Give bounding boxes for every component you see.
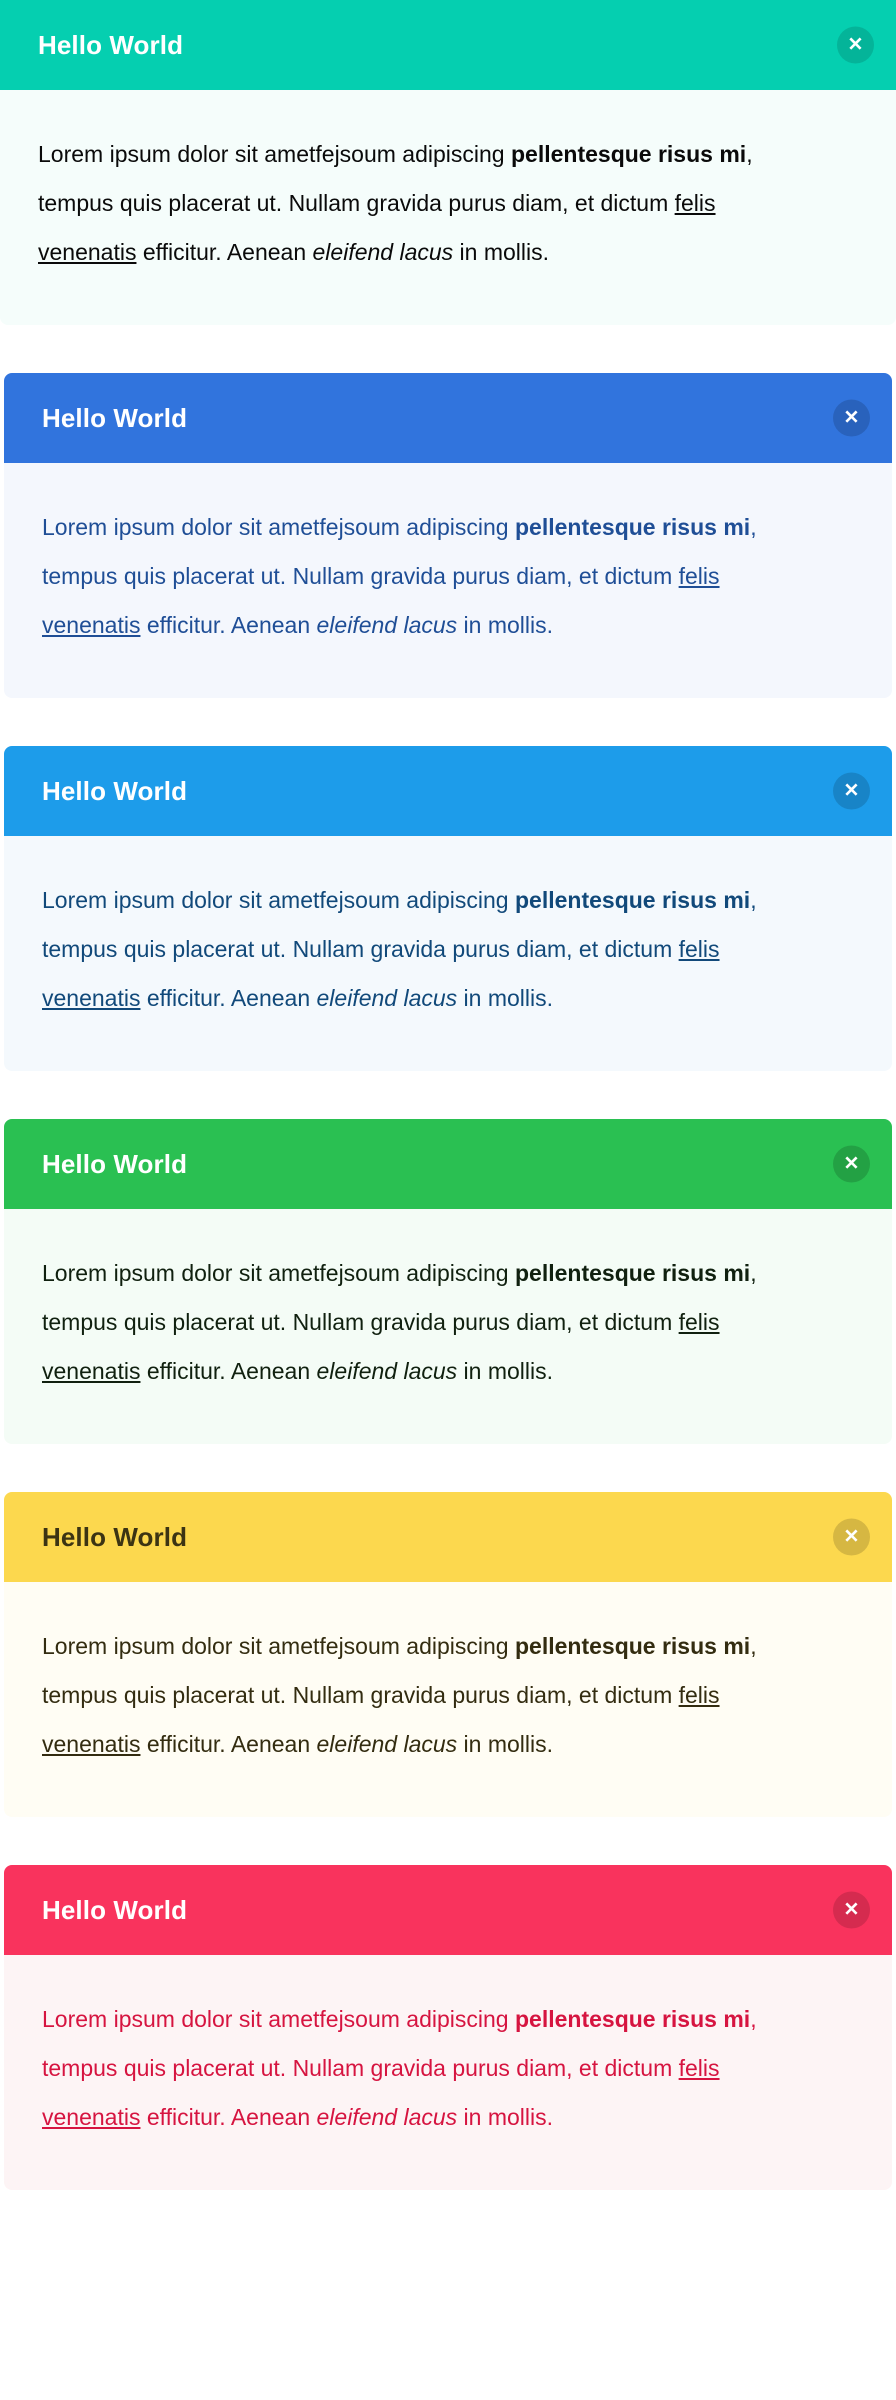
body-text-bold: pellentesque risus mi xyxy=(515,514,750,540)
card-gap xyxy=(0,1817,896,1865)
body-text-mid-2: efficitur. Aenean xyxy=(140,612,316,638)
card-header-blue: Hello World✕ xyxy=(4,373,892,463)
body-text-tail: in mollis. xyxy=(457,1731,553,1757)
body-text-lead: Lorem ipsum dolor sit ametfejsoum adipis… xyxy=(42,887,515,913)
card-title: Hello World xyxy=(42,1151,187,1177)
alert-card-stack: Hello World✕Lorem ipsum dolor sit ametfe… xyxy=(0,0,896,2190)
body-text-lead: Lorem ipsum dolor sit ametfejsoum adipis… xyxy=(42,514,515,540)
body-text-tail: in mollis. xyxy=(457,2104,553,2130)
card-title: Hello World xyxy=(42,1524,187,1550)
card-header-red: Hello World✕ xyxy=(4,1865,892,1955)
alert-card-teal: Hello World✕Lorem ipsum dolor sit ametfe… xyxy=(0,0,896,325)
card-header-yellow: Hello World✕ xyxy=(4,1492,892,1582)
card-header-green: Hello World✕ xyxy=(4,1119,892,1209)
card-body-red: Lorem ipsum dolor sit ametfejsoum adipis… xyxy=(4,1955,892,2190)
body-text-bold: pellentesque risus mi xyxy=(515,2006,750,2032)
close-button[interactable]: ✕ xyxy=(833,1892,870,1929)
body-text-mid-2: efficitur. Aenean xyxy=(140,985,316,1011)
body-text-bold: pellentesque risus mi xyxy=(515,1633,750,1659)
body-text-tail: in mollis. xyxy=(457,612,553,638)
close-button[interactable]: ✕ xyxy=(833,1146,870,1183)
body-text-italic: eleifend lacus xyxy=(317,612,458,638)
body-text-mid-2: efficitur. Aenean xyxy=(140,1358,316,1384)
card-body-text: Lorem ipsum dolor sit ametfejsoum adipis… xyxy=(42,1995,762,2142)
body-text-mid-2: efficitur. Aenean xyxy=(140,2104,316,2130)
body-text-bold: pellentesque risus mi xyxy=(515,887,750,913)
card-body-text: Lorem ipsum dolor sit ametfejsoum adipis… xyxy=(42,1249,762,1396)
body-text-tail: in mollis. xyxy=(457,1358,553,1384)
card-body-green: Lorem ipsum dolor sit ametfejsoum adipis… xyxy=(4,1209,892,1444)
card-body-text: Lorem ipsum dolor sit ametfejsoum adipis… xyxy=(42,503,762,650)
card-title: Hello World xyxy=(38,32,183,58)
card-body-teal: Lorem ipsum dolor sit ametfejsoum adipis… xyxy=(0,90,896,325)
body-text-italic: eleifend lacus xyxy=(317,1358,458,1384)
card-body-text: Lorem ipsum dolor sit ametfejsoum adipis… xyxy=(38,130,758,277)
card-header-light-blue: Hello World✕ xyxy=(4,746,892,836)
card-body-text: Lorem ipsum dolor sit ametfejsoum adipis… xyxy=(42,876,762,1023)
body-text-italic: eleifend lacus xyxy=(317,1731,458,1757)
card-title: Hello World xyxy=(42,405,187,431)
alert-card-light-blue: Hello World✕Lorem ipsum dolor sit ametfe… xyxy=(4,746,892,1071)
close-icon: ✕ xyxy=(844,1527,860,1546)
card-gap xyxy=(0,1071,896,1119)
body-text-tail: in mollis. xyxy=(453,239,549,265)
card-gap xyxy=(0,698,896,746)
card-header-teal: Hello World✕ xyxy=(0,0,896,90)
alert-card-green: Hello World✕Lorem ipsum dolor sit ametfe… xyxy=(4,1119,892,1444)
body-text-bold: pellentesque risus mi xyxy=(515,1260,750,1286)
body-text-tail: in mollis. xyxy=(457,985,553,1011)
close-button[interactable]: ✕ xyxy=(833,773,870,810)
card-body-yellow: Lorem ipsum dolor sit ametfejsoum adipis… xyxy=(4,1582,892,1817)
close-button[interactable]: ✕ xyxy=(833,1519,870,1556)
card-body-blue: Lorem ipsum dolor sit ametfejsoum adipis… xyxy=(4,463,892,698)
body-text-italic: eleifend lacus xyxy=(317,985,458,1011)
alert-card-blue: Hello World✕Lorem ipsum dolor sit ametfe… xyxy=(4,373,892,698)
close-icon: ✕ xyxy=(844,408,860,427)
body-text-lead: Lorem ipsum dolor sit ametfejsoum adipis… xyxy=(38,141,511,167)
card-gap xyxy=(0,1444,896,1492)
card-gap xyxy=(0,325,896,373)
close-button[interactable]: ✕ xyxy=(837,27,874,64)
alert-card-red: Hello World✕Lorem ipsum dolor sit ametfe… xyxy=(4,1865,892,2190)
body-text-mid-2: efficitur. Aenean xyxy=(140,1731,316,1757)
close-icon: ✕ xyxy=(844,1154,860,1173)
body-text-lead: Lorem ipsum dolor sit ametfejsoum adipis… xyxy=(42,2006,515,2032)
card-body-text: Lorem ipsum dolor sit ametfejsoum adipis… xyxy=(42,1622,762,1769)
alert-card-yellow: Hello World✕Lorem ipsum dolor sit ametfe… xyxy=(4,1492,892,1817)
body-text-italic: eleifend lacus xyxy=(317,2104,458,2130)
body-text-bold: pellentesque risus mi xyxy=(511,141,746,167)
body-text-lead: Lorem ipsum dolor sit ametfejsoum adipis… xyxy=(42,1633,515,1659)
card-body-light-blue: Lorem ipsum dolor sit ametfejsoum adipis… xyxy=(4,836,892,1071)
close-icon: ✕ xyxy=(844,1900,860,1919)
close-icon: ✕ xyxy=(844,781,860,800)
body-text-mid-2: efficitur. Aenean xyxy=(136,239,312,265)
card-title: Hello World xyxy=(42,778,187,804)
body-text-lead: Lorem ipsum dolor sit ametfejsoum adipis… xyxy=(42,1260,515,1286)
card-title: Hello World xyxy=(42,1897,187,1923)
body-text-italic: eleifend lacus xyxy=(313,239,454,265)
close-button[interactable]: ✕ xyxy=(833,400,870,437)
close-icon: ✕ xyxy=(848,35,864,54)
